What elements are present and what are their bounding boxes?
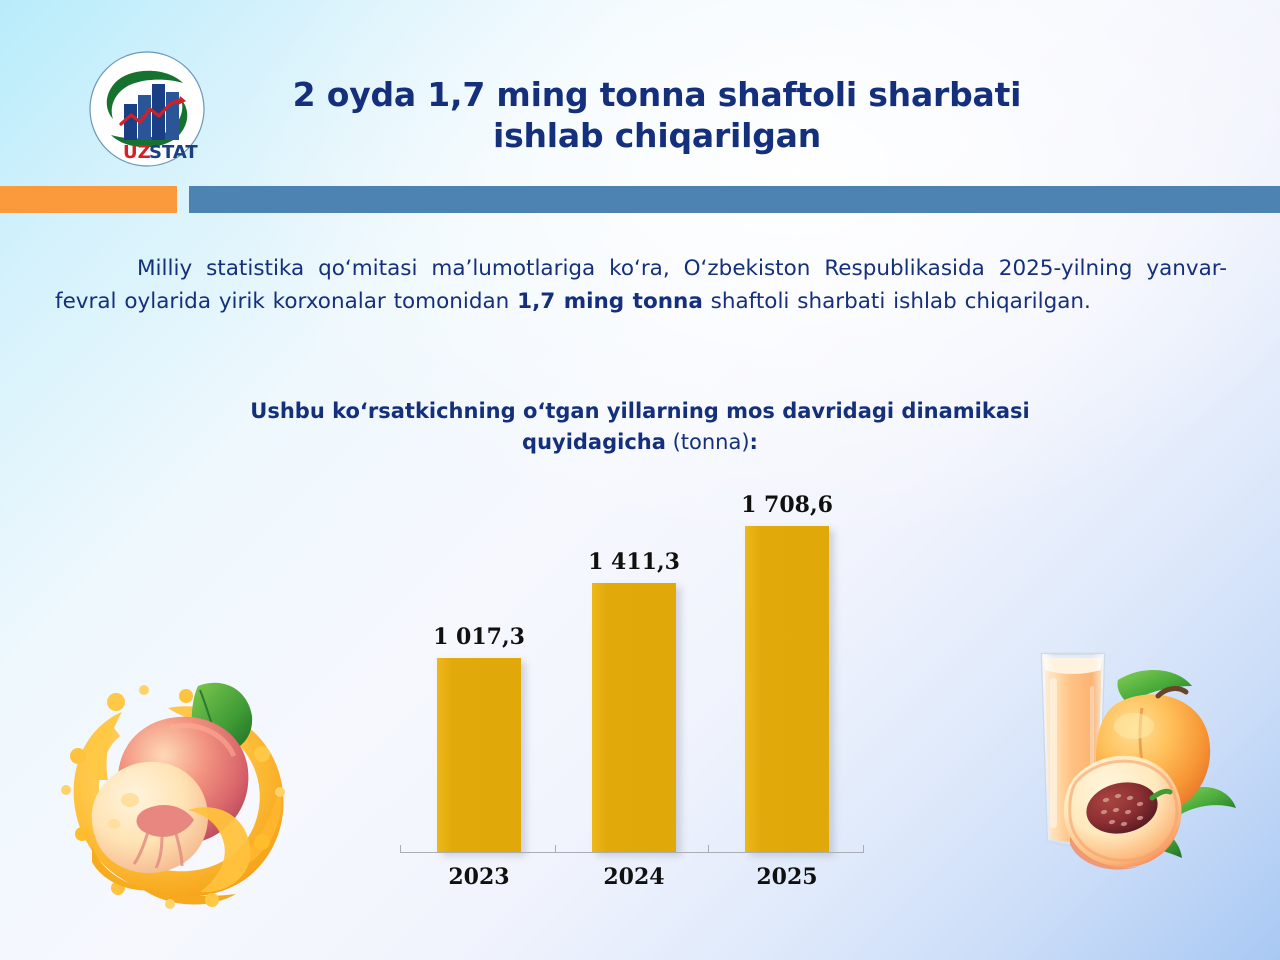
axis-tick-start — [400, 845, 401, 853]
chart-x-axis — [400, 852, 863, 853]
axis-tick-1 — [555, 845, 556, 853]
divider-bar-orange — [0, 186, 177, 213]
bar-value-label-2024: 1 411,3 — [588, 549, 680, 575]
axis-label-2024: 2024 — [574, 864, 694, 890]
chart-subtitle-colon: : — [750, 430, 758, 454]
page-title-line-1: 2 oyda 1,7 ming tonna shaftoli sharbati — [232, 74, 1082, 115]
chart-subtitle-line-1: Ushbu ko‘rsatkichning o‘tgan yillarning … — [250, 399, 1029, 423]
bar-2024[interactable] — [592, 583, 676, 852]
infographic-slide: UZ STAT 2 oyda 1,7 ming tonna shaftoli s… — [0, 0, 1280, 960]
bar-2025[interactable] — [745, 526, 829, 852]
bar-value-label-2025: 1 708,6 — [741, 492, 833, 518]
peach-juice-splash-image — [48, 660, 308, 930]
page-title: 2 oyda 1,7 ming tonna shaftoli sharbati … — [232, 74, 1082, 156]
axis-label-2023: 2023 — [419, 864, 539, 890]
axis-tick-end — [863, 845, 864, 853]
juice-glass-icon — [1012, 630, 1257, 920]
uzstat-logo: UZ STAT — [88, 50, 206, 168]
paragraph-highlight: 1,7 ming tonna — [517, 289, 703, 314]
chart-plot-area: 1 017,3 1 411,3 1 708,6 — [380, 480, 880, 852]
bar-chart: 1 017,3 1 411,3 1 708,6 2023 2024 2025 — [380, 480, 880, 900]
chart-subtitle-line-2-bold: quyidagicha — [522, 430, 666, 454]
bar-2023[interactable] — [437, 658, 521, 852]
body-paragraph: Milliy statistika qo‘mitasi ma’lumotlari… — [55, 252, 1227, 318]
chart-subtitle: Ushbu ko‘rsatkichning o‘tgan yillarning … — [190, 396, 1090, 458]
uzstat-logo-icon: UZ STAT — [88, 50, 206, 168]
axis-tick-2 — [708, 845, 709, 853]
peach-splash-icon — [48, 660, 308, 930]
axis-label-2025: 2025 — [727, 864, 847, 890]
logo-text-uz: UZ — [123, 142, 151, 163]
peach-juice-glass-image — [1012, 630, 1257, 920]
bar-value-label-2023: 1 017,3 — [433, 624, 525, 650]
divider-bar-blue — [189, 186, 1280, 213]
page-title-line-2: ishlab chiqarilgan — [232, 115, 1082, 156]
paragraph-text-part-2: shaftoli sharbati ishlab chiqarilgan. — [703, 289, 1091, 314]
logo-text-stat: STAT — [149, 142, 198, 163]
chart-subtitle-unit: (tonna) — [666, 430, 750, 454]
